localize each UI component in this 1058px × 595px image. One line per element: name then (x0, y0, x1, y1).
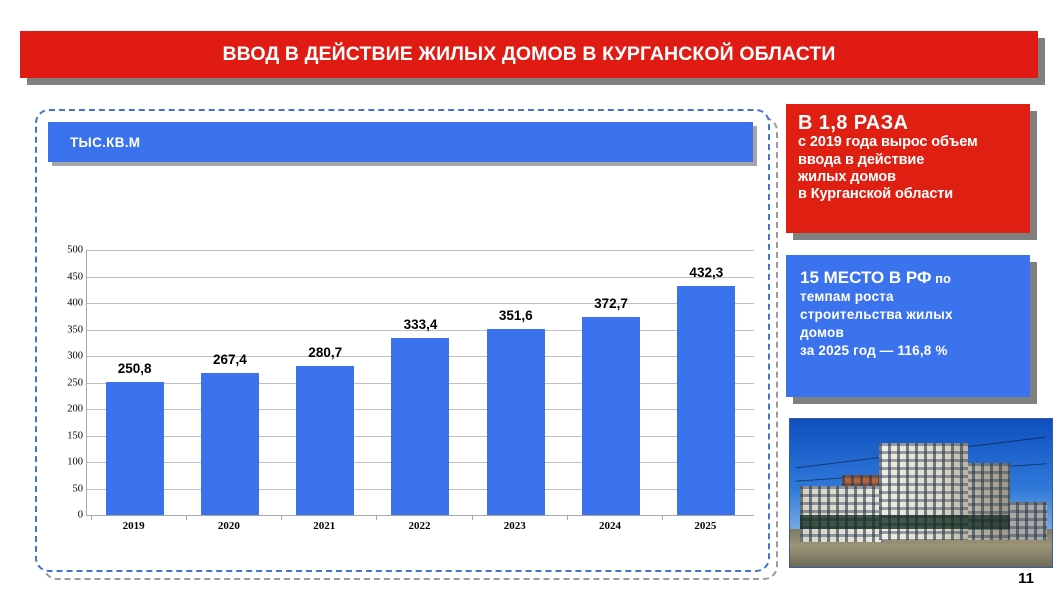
y-tick-label: 150 (43, 430, 83, 441)
right-building-wing (963, 463, 1010, 540)
x-tick-label: 2023 (471, 520, 559, 532)
red-box-headline: В 1,8 РАЗА (798, 112, 1020, 134)
bar-value-label: 351,6 (499, 308, 533, 323)
page-title: ВВОД В ДЕЙСТВИЕ ЖИЛЫХ ДОМОВ В КУРГАНСКОЙ… (222, 43, 835, 66)
bar-2019[interactable] (106, 382, 164, 515)
blue-box-headline-suffix: по (932, 271, 951, 286)
bar-2023[interactable] (487, 329, 545, 515)
y-tick-label: 500 (43, 245, 83, 256)
y-tick-label: 200 (43, 404, 83, 415)
bar-value-label: 250,8 (118, 361, 152, 376)
chart-plot-region: 050100150200250300350400450500 250,8267,… (43, 175, 763, 565)
blue-box-line-2: строительства жилых (800, 306, 1020, 324)
red-box-line-1: с 2019 года вырос объем (798, 134, 1020, 151)
x-tick-label: 2021 (280, 520, 368, 532)
y-tick-label: 250 (43, 377, 83, 388)
y-tick-label: 50 (43, 483, 83, 494)
x-axis: 2019202020212022202320242025 (86, 520, 753, 532)
building-ground-floor (800, 515, 1010, 528)
slide-title-banner: ВВОД В ДЕЙСТВИЕ ЖИЛЫХ ДОМОВ В КУРГАНСКОЙ… (20, 31, 1038, 78)
y-tick-label: 450 (43, 271, 83, 282)
bar-2025[interactable] (677, 286, 735, 515)
y-tick-label: 400 (43, 298, 83, 309)
red-box-line-3: жилых домов (798, 169, 1020, 186)
y-tick-label: 0 (43, 510, 83, 521)
residential-building-photo (789, 418, 1053, 568)
y-tick-label: 300 (43, 351, 83, 362)
far-building (1007, 502, 1046, 540)
page-number: 11 (1018, 570, 1034, 587)
x-tick-label: 2024 (566, 520, 654, 532)
bar-value-label: 280,7 (308, 345, 342, 360)
chart-panel: ТЫС.КВ.М 050100150200250300350400450500 … (35, 109, 770, 572)
y-tick-label: 350 (43, 324, 83, 335)
red-highlight-box: В 1,8 РАЗА с 2019 года вырос объем ввода… (786, 104, 1030, 233)
bar-slot: 432,3 (662, 250, 750, 515)
blue-box-line-3: домов (800, 324, 1020, 342)
red-box-line-2: ввода в действие (798, 152, 1020, 169)
red-box-line-4: в Курганской области (798, 186, 1020, 203)
blue-highlight-box: 15 МЕСТО В РФ по темпам роста строительс… (786, 255, 1030, 397)
blue-box-headline: 15 МЕСТО В РФ по (800, 268, 1020, 288)
x-tick-label: 2020 (185, 520, 273, 532)
bar-2022[interactable] (391, 338, 449, 515)
y-axis: 050100150200250300350400450500 (43, 250, 83, 515)
blue-box-headline-main: 15 МЕСТО В РФ (800, 268, 932, 287)
bar-slot: 333,4 (376, 250, 464, 515)
blue-box-line-4: за 2025 год — 116,8 % (800, 342, 1020, 360)
bars-layer: 250,8267,4280,7333,4351,6372,7432,3 (87, 250, 754, 515)
y-tick-label: 100 (43, 457, 83, 468)
bar-value-label: 333,4 (404, 317, 438, 332)
bar-value-label: 267,4 (213, 352, 247, 367)
x-tick-label: 2022 (375, 520, 463, 532)
chart-units-label: ТЫС.КВ.М (48, 135, 140, 150)
bar-slot: 280,7 (281, 250, 369, 515)
bar-2024[interactable] (582, 317, 640, 515)
x-tick-label: 2019 (90, 520, 178, 532)
bar-2020[interactable] (201, 373, 259, 515)
plot-area: 250,8267,4280,7333,4351,6372,7432,3 (86, 250, 754, 516)
blue-box-line-1: темпам роста (800, 288, 1020, 306)
bar-value-label: 432,3 (689, 265, 723, 280)
left-building-wing (800, 486, 884, 542)
bar-slot: 250,8 (91, 250, 179, 515)
bar-value-label: 372,7 (594, 296, 628, 311)
bar-2021[interactable] (296, 366, 354, 515)
chart-header-bar: ТЫС.КВ.М (48, 122, 753, 162)
bar-slot: 351,6 (472, 250, 560, 515)
x-tick-label: 2025 (661, 520, 749, 532)
bar-slot: 267,4 (186, 250, 274, 515)
bar-slot: 372,7 (567, 250, 655, 515)
